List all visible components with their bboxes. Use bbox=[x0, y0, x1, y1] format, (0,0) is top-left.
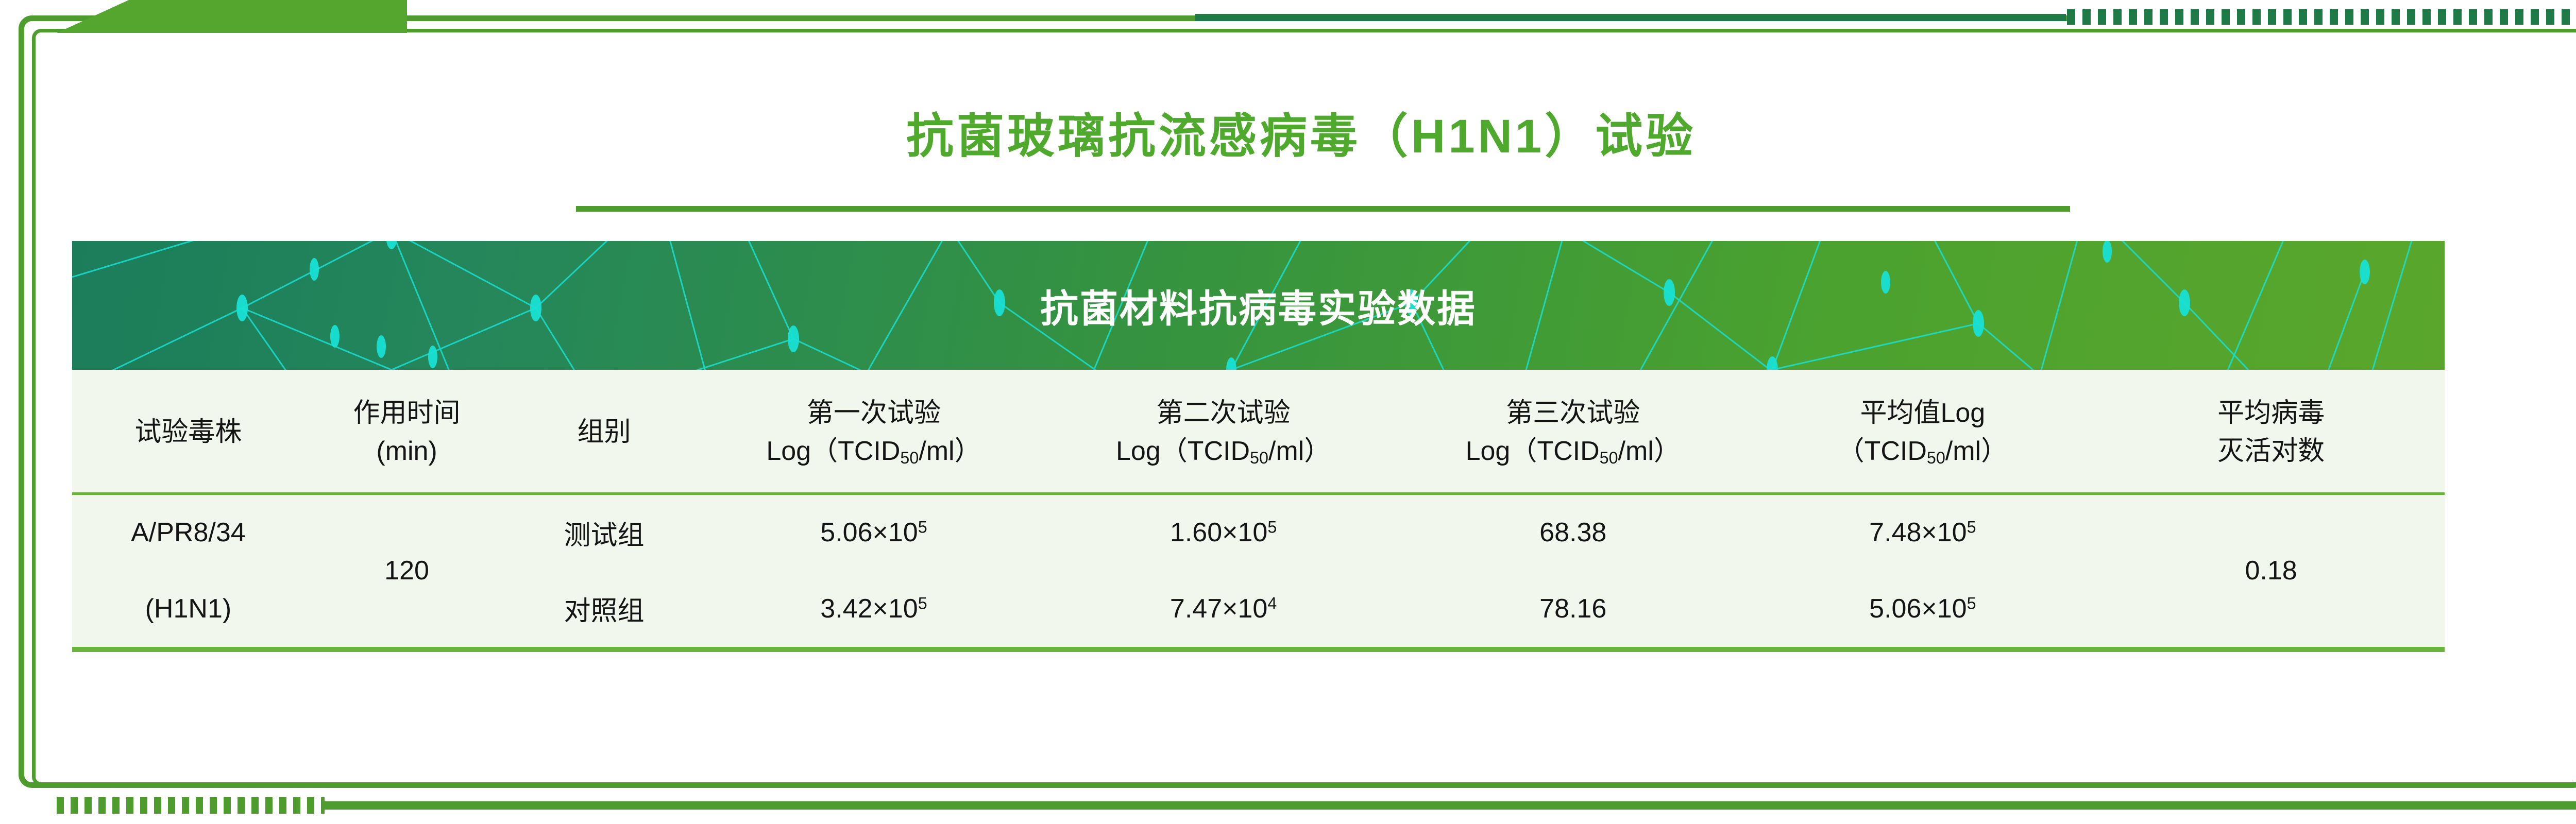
col-header-test2: 第二次试验 Log（TCID50/ml） bbox=[1048, 370, 1398, 493]
table-banner-title: 抗菌材料抗病毒实验数据 bbox=[1040, 278, 1477, 333]
page-title: 抗菌玻璃抗流感病毒（H1N1）试验 bbox=[0, 98, 2576, 166]
cell-mean-value: 7.48×105 bbox=[1748, 493, 2098, 571]
col-header-test1-units: Log（TCID50/ml） bbox=[702, 433, 1046, 471]
slide-page: 抗菌玻璃抗流感病毒（H1N1）试验 bbox=[0, 0, 2576, 824]
col-header-mean-units: （TCID50/ml） bbox=[1751, 433, 2095, 471]
table-row: A/PR8/34 120 测试组 5.06×105 1.60×105 68.38… bbox=[72, 493, 2445, 571]
cell-test3-value: 68.38 bbox=[1398, 493, 1748, 571]
cell-test2-exponent: 4 bbox=[1267, 594, 1277, 612]
cell-test1-value: 5.06×105 bbox=[699, 493, 1049, 571]
title-underline-rule bbox=[576, 206, 2070, 212]
cell-mean-exponent: 5 bbox=[1967, 594, 1976, 612]
table-body-row-group: A/PR8/34 120 测试组 5.06×105 1.60×105 68.38… bbox=[72, 493, 2445, 647]
top-right-accent-line bbox=[1195, 14, 2066, 21]
cell-test1-value: 3.42×105 bbox=[699, 571, 1049, 647]
col-header-strain: 试验毒株 bbox=[72, 370, 304, 493]
col-header-mean-log: 平均值Log （TCID50/ml） bbox=[1748, 370, 2098, 493]
cell-test2-mantissa: 1.60×10 bbox=[1170, 518, 1267, 547]
cell-mean-value: 5.06×105 bbox=[1748, 571, 2098, 647]
cell-test1-exponent: 5 bbox=[918, 518, 927, 536]
data-table-container: 抗菌材料抗病毒实验数据 试验毒株 作用时间 (min) bbox=[72, 241, 2445, 652]
col-header-test3-units: Log（TCID50/ml） bbox=[1401, 433, 1745, 471]
col-header-duration: 作用时间 (min) bbox=[304, 370, 509, 493]
cell-test1-exponent: 5 bbox=[918, 594, 927, 612]
col-header-group: 组别 bbox=[509, 370, 699, 493]
bottom-left-hatch-pattern bbox=[57, 797, 325, 814]
cell-test2-mantissa: 7.47×10 bbox=[1170, 594, 1267, 624]
cell-test2-value: 7.47×104 bbox=[1048, 571, 1398, 647]
col-header-inactivation-log: 平均病毒 灭活对数 bbox=[2097, 370, 2445, 493]
cell-duration: 120 bbox=[304, 493, 509, 647]
col-header-test2-units: Log（TCID50/ml） bbox=[1052, 433, 1395, 471]
cell-strain-line1: A/PR8/34 bbox=[72, 493, 304, 571]
table-header-row: 试验毒株 作用时间 (min) 组别 第一次试验 Log（TCID50/ml） bbox=[72, 370, 2445, 493]
col-header-test1: 第一次试验 Log（TCID50/ml） bbox=[699, 370, 1049, 493]
cell-strain-line2: (H1N1) bbox=[72, 571, 304, 647]
table-header-row-group: 试验毒株 作用时间 (min) 组别 第一次试验 Log（TCID50/ml） bbox=[72, 370, 2445, 493]
cell-mean-exponent: 5 bbox=[1967, 518, 1976, 536]
table-bottom-rule bbox=[72, 647, 2445, 652]
cell-group-control: 对照组 bbox=[509, 571, 699, 647]
bottom-accent-line bbox=[324, 801, 2576, 810]
cell-test2-exponent: 5 bbox=[1267, 518, 1277, 536]
cell-mean-mantissa: 5.06×10 bbox=[1869, 594, 1967, 624]
cell-group-test: 测试组 bbox=[509, 493, 699, 571]
table-banner: 抗菌材料抗病毒实验数据 bbox=[72, 241, 2445, 370]
cell-test1-mantissa: 3.42×10 bbox=[820, 594, 918, 624]
cell-mean-mantissa: 7.48×10 bbox=[1869, 518, 1967, 547]
top-right-hatch-pattern bbox=[2067, 9, 2576, 25]
antiviral-data-table: 试验毒株 作用时间 (min) 组别 第一次试验 Log（TCID50/ml） bbox=[72, 370, 2445, 647]
cell-test2-value: 1.60×105 bbox=[1048, 493, 1398, 571]
cell-test3-value: 78.16 bbox=[1398, 571, 1748, 647]
cell-test1-mantissa: 5.06×10 bbox=[820, 518, 918, 547]
table-body-wrapper: 试验毒株 作用时间 (min) 组别 第一次试验 Log（TCID50/ml） bbox=[72, 370, 2445, 652]
col-header-test3: 第三次试验 Log（TCID50/ml） bbox=[1398, 370, 1748, 493]
cell-inactivation-log: 0.18 bbox=[2097, 493, 2445, 647]
